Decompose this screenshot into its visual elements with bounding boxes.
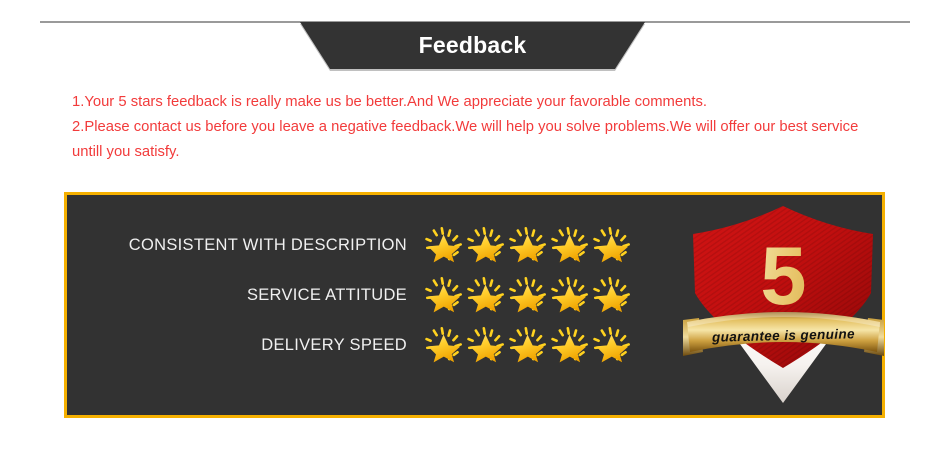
page-header: Feedback: [0, 0, 950, 84]
page-title: Feedback: [300, 22, 645, 69]
star-icon: [425, 276, 467, 314]
star-icon: [551, 226, 593, 264]
star-rating-delivery-speed: [425, 326, 637, 364]
rating-label-delivery-speed: DELIVERY SPEED: [261, 336, 425, 355]
rating-row: SERVICE ATTITUDE: [67, 271, 637, 319]
star-icon: [425, 326, 467, 364]
star-icon: [467, 226, 509, 264]
star-icon: [425, 226, 467, 264]
header-banner-shape: Feedback: [300, 22, 645, 69]
shield-badge-icon: [681, 198, 886, 413]
note-line-1: 1.Your 5 stars feedback is really make u…: [72, 90, 882, 115]
star-icon: [593, 326, 635, 364]
star-icon: [551, 276, 593, 314]
note-line-2: 2.Please contact us before you leave a n…: [72, 115, 882, 165]
rating-label-service-attitude: SERVICE ATTITUDE: [247, 286, 425, 305]
star-icon: [509, 276, 551, 314]
star-icon: [509, 326, 551, 364]
star-icon: [551, 326, 593, 364]
rating-panel: CONSISTENT WITH DESCRIPTION: [64, 192, 885, 418]
guarantee-shield-badge: 5 guarantee is genuine: [681, 198, 886, 413]
star-icon: [467, 276, 509, 314]
star-rating-consistent-with-description: [425, 226, 637, 264]
rating-row: CONSISTENT WITH DESCRIPTION: [67, 221, 637, 269]
star-icon: [593, 226, 635, 264]
rating-label-consistent-with-description: CONSISTENT WITH DESCRIPTION: [129, 236, 425, 255]
rating-rows: CONSISTENT WITH DESCRIPTION: [67, 221, 637, 371]
star-icon: [509, 226, 551, 264]
feedback-notes: 1.Your 5 stars feedback is really make u…: [72, 90, 882, 165]
star-icon: [467, 326, 509, 364]
rating-row: DELIVERY SPEED: [67, 321, 637, 369]
star-rating-service-attitude: [425, 276, 637, 314]
star-icon: [593, 276, 635, 314]
